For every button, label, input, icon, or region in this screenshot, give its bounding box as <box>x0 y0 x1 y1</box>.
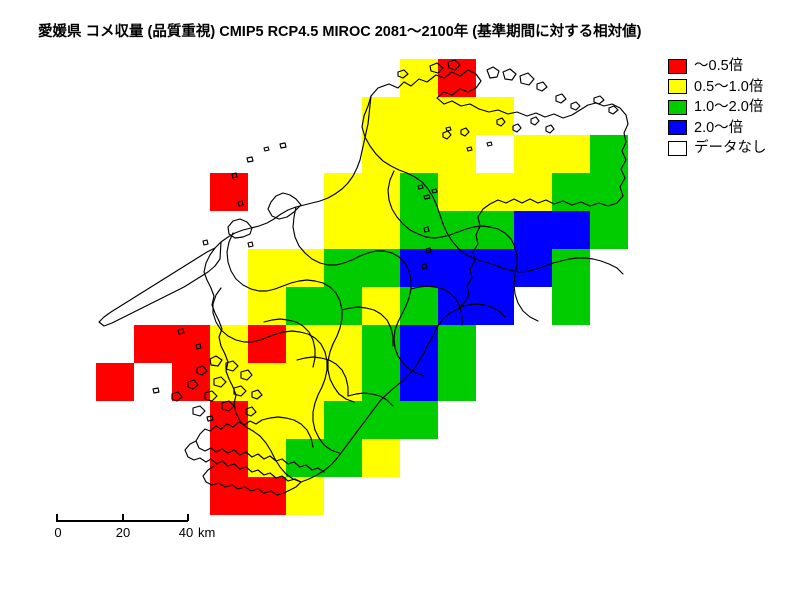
scale-bar-tick-20 <box>122 514 124 521</box>
legend-swatch-lt0.5 <box>668 59 687 74</box>
legend-swatch-1.0-2.0 <box>668 100 687 115</box>
legend: 〜0.5倍 0.5〜1.0倍 1.0〜2.0倍 2.0〜倍 データなし <box>668 56 767 159</box>
legend-item-gt2.0: 2.0〜倍 <box>668 118 767 139</box>
legend-label-1.0-2.0: 1.0〜2.0倍 <box>694 100 763 115</box>
scale-bar-label-20: 20 <box>116 525 130 540</box>
legend-label-lt0.5: 〜0.5倍 <box>694 59 743 74</box>
legend-item-1.0-2.0: 1.0〜2.0倍 <box>668 97 767 118</box>
scale-bar-unit: km <box>198 525 215 540</box>
legend-label-gt2.0: 2.0〜倍 <box>694 121 743 136</box>
legend-item-lt0.5: 〜0.5倍 <box>668 56 767 77</box>
legend-label-nodata: データなし <box>694 141 767 156</box>
scale-bar-label-0: 0 <box>54 525 61 540</box>
scale-bar-tick-0 <box>56 514 58 521</box>
map-figure: 愛媛県 コメ収量 (品質重視) CMIP5 RCP4.5 MIROC 2081〜… <box>0 0 800 600</box>
legend-swatch-0.5-1.0 <box>668 79 687 94</box>
scale-bar-tick-40 <box>187 514 189 521</box>
scale-bar-label-40: 40 <box>179 525 193 540</box>
legend-swatch-nodata <box>668 141 687 156</box>
legend-label-0.5-1.0: 0.5〜1.0倍 <box>694 80 763 95</box>
legend-item-0.5-1.0: 0.5〜1.0倍 <box>668 77 767 98</box>
legend-swatch-gt2.0 <box>668 120 687 135</box>
legend-item-nodata: データなし <box>668 138 767 159</box>
